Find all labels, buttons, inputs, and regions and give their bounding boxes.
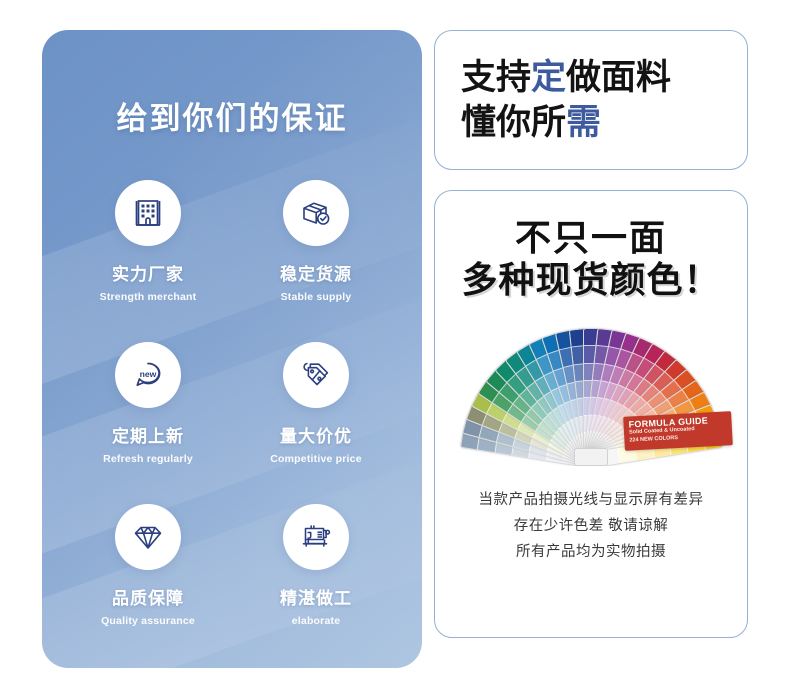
custom-fabric-line-1: 支持定做面料 — [461, 55, 747, 101]
feature-icon-wrapper — [283, 342, 349, 408]
package-check-icon — [299, 196, 333, 230]
feature-label-zh: 稳定货源 — [280, 260, 352, 285]
feature-item-elaborate: 精湛做工 elaborate — [232, 504, 400, 666]
feature-item-competitive-price: 量大价优 Competitive price — [232, 342, 400, 504]
custom-fabric-card: 支持定做面料 懂你所需 — [434, 30, 748, 170]
fan-hub — [574, 448, 608, 466]
feature-item-stable-supply: 稳定货源 Stable supply — [232, 180, 400, 342]
new-bubble-icon: new — [131, 358, 165, 392]
pantone-fan-deck-image: FORMULA GUIDE Solid Coated & Uncoated 22… — [446, 316, 736, 466]
custom-line2-part-a: 懂你所 — [461, 103, 566, 142]
feature-item-strength-merchant: 实力厂家 Strength merchant — [64, 180, 232, 342]
building-icon — [131, 196, 165, 230]
custom-line1-part-b: 做面料 — [566, 58, 671, 97]
colors-heading-line-1: 不只一面 — [515, 217, 667, 259]
feature-icon-wrapper — [283, 180, 349, 246]
custom-line2-accent: 需 — [566, 103, 601, 142]
feature-label-en: elaborate — [292, 615, 341, 627]
feature-label-en: Competitive price — [270, 453, 362, 465]
disclaimer-line-3: 所有产品均为实物拍摄 — [479, 540, 704, 566]
feature-label-zh: 精湛做工 — [280, 584, 352, 609]
feature-icon-wrapper — [115, 180, 181, 246]
color-disclaimer: 当款产品拍摄光线与显示屏有差异 存在少许色差 敬请谅解 所有产品均为实物拍摄 — [479, 488, 704, 565]
feature-label-zh: 实力厂家 — [112, 260, 184, 285]
feature-label-zh: 品质保障 — [112, 584, 184, 609]
feature-item-refresh-regularly: new 定期上新 Refresh regularly — [64, 342, 232, 504]
guarantee-panel-title: 给到你们的保证 — [42, 93, 422, 138]
feature-icon-wrapper: new — [115, 342, 181, 408]
feature-icon-wrapper — [283, 504, 349, 570]
guarantee-panel: 给到你们的保证 — [42, 30, 422, 668]
right-column: 支持定做面料 懂你所需 不只一面 多种现货颜色！ FORMULA GUIDE S… — [434, 30, 748, 638]
feature-grid: 实力厂家 Strength merchant — [42, 180, 422, 666]
feature-label-zh: 量大价优 — [280, 422, 352, 447]
feature-label-en: Quality assurance — [101, 615, 195, 627]
feature-icon-wrapper — [115, 504, 181, 570]
feature-label-zh: 定期上新 — [112, 422, 184, 447]
stock-colors-card: 不只一面 多种现货颜色！ FORMULA GUIDE Solid Coated … — [434, 190, 748, 638]
disclaimer-line-1: 当款产品拍摄光线与显示屏有差异 — [479, 488, 704, 514]
sewing-machine-icon — [299, 520, 333, 554]
price-tag-icon — [299, 358, 333, 392]
feature-label-en: Stable supply — [281, 291, 352, 303]
formula-guide-label: FORMULA GUIDE Solid Coated & Uncoated 22… — [623, 411, 733, 451]
custom-line1-part-a: 支持 — [461, 58, 531, 97]
diamond-icon — [131, 520, 165, 554]
product-detail-page: 给到你们的保证 — [0, 0, 790, 698]
svg-text:new: new — [140, 369, 157, 379]
disclaimer-line-2: 存在少许色差 敬请谅解 — [479, 514, 704, 540]
feature-label-en: Strength merchant — [100, 291, 197, 303]
custom-line1-accent: 定 — [531, 58, 566, 97]
feature-item-quality-assurance: 品质保障 Quality assurance — [64, 504, 232, 666]
feature-label-en: Refresh regularly — [103, 453, 193, 465]
custom-fabric-line-2: 懂你所需 — [461, 100, 747, 146]
colors-heading-line-2: 多种现货颜色！ — [461, 259, 720, 301]
